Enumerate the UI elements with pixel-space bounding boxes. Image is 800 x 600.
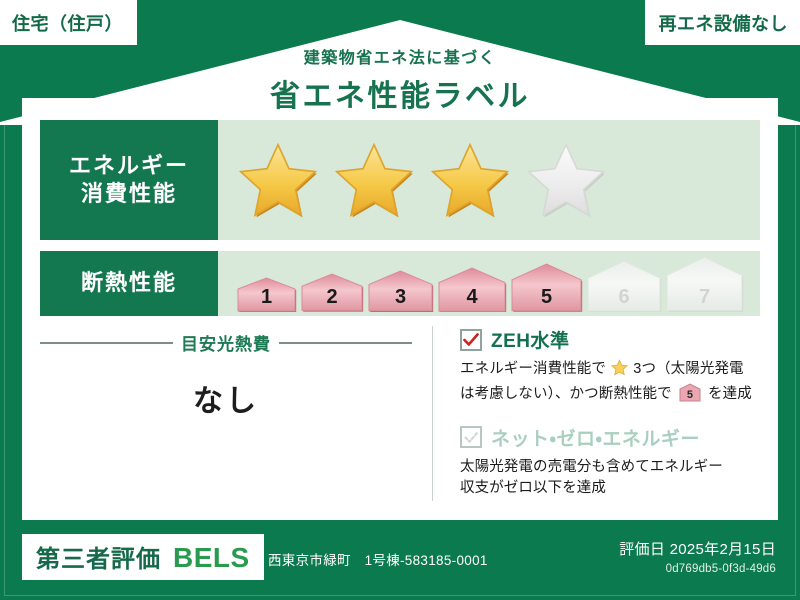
insulation-level-1: 1	[236, 276, 297, 312]
zeh-standard-body-part1: エネルギー消費性能で	[460, 361, 606, 377]
bels-logo-plate: 第三者評価 BELS	[22, 534, 264, 580]
insulation-level-number: 2	[300, 287, 364, 307]
renewable-equipment-tag-label: 再エネ設備なし	[659, 10, 789, 36]
zeh-standard-checkbox[interactable]	[460, 329, 482, 351]
zeh-standard-head: ZEH水準	[460, 326, 762, 353]
utility-cost-heading: 目安光熱費	[40, 330, 412, 355]
utility-cost-value: なし	[40, 376, 412, 420]
heading-rule-right	[279, 342, 412, 344]
insulation-performance-label: 断熱性能	[40, 251, 218, 316]
zeh-standard-body: エネルギー消費性能で 3つ（太陽光発電 は考慮しない）、かつ断熱性能で 5 を達…	[460, 359, 762, 410]
insulation-performance-value: 1234567	[218, 251, 760, 316]
svg-text:5: 5	[687, 389, 693, 401]
footer: 第三者評価 BELS 西東京市緑町 1号棟-583185-0001 評価日 20…	[0, 520, 800, 600]
zeh-standard-block: ZEH水準 エネルギー消費性能で 3つ（太陽光発電 は考慮しない）、かつ断熱性能…	[460, 326, 762, 410]
bels-logo-jp: 第三者評価	[36, 539, 161, 574]
zeh-standard-title: ZEH水準	[491, 326, 570, 353]
utility-cost-heading-text: 目安光熱費	[181, 330, 271, 355]
star-icon	[607, 364, 632, 380]
insulation-level-4: 4	[437, 266, 507, 312]
net-zero-energy-body: 太陽光発電の売電分も含めてエネルギー 収支がゼロ以下を達成	[460, 457, 762, 500]
star-icon-filled	[236, 140, 320, 220]
renewable-equipment-tag: 再エネ設備なし	[645, 0, 800, 45]
energy-performance-value	[218, 120, 760, 240]
energy-performance-row: エネルギー 消費性能	[40, 120, 760, 240]
evaluation-meta: 評価日 2025年2月15日 0d769db5-0f3d-49d6	[619, 538, 776, 575]
insulation-level-scale: 1234567	[236, 255, 744, 311]
vertical-divider	[432, 326, 433, 501]
net-zero-energy-body-line1: 太陽光発電の売電分も含めてエネルギー	[460, 459, 723, 475]
energy-performance-label-line2: 消費性能	[81, 180, 177, 208]
insulation-level-3: 3	[367, 269, 434, 312]
net-zero-energy-head: ネット・ゼロ・エネルギー	[460, 424, 762, 451]
zeh-standard-body-part4: を達成	[708, 386, 752, 402]
building-type-tag: 住宅（住戸）	[0, 0, 137, 45]
star-rating	[236, 140, 608, 220]
insulation-performance-row: 断熱性能 1234567	[40, 251, 760, 316]
evaluation-date: 評価日 2025年2月15日	[619, 538, 776, 559]
property-address: 西東京市緑町 1号棟-583185-0001	[268, 549, 488, 569]
insulation-level-number: 7	[665, 287, 744, 307]
energy-performance-label-line1: エネルギー	[69, 152, 189, 180]
star-icon-empty	[524, 140, 608, 220]
heading-rule-left	[40, 342, 173, 344]
insulation-level-7: 7	[665, 255, 744, 311]
insulation-performance-label-text: 断熱性能	[81, 269, 177, 297]
evaluation-date-value: 2025年2月15日	[670, 541, 776, 558]
star-icon-filled	[332, 140, 416, 220]
insulation-level-number: 3	[367, 287, 434, 307]
insulation-level-badge-icon: 5	[674, 390, 706, 406]
star-icon-filled	[428, 140, 512, 220]
zeh-column: ZEH水準 エネルギー消費性能で 3つ（太陽光発電 は考慮しない）、かつ断熱性能…	[460, 326, 762, 508]
zeh-standard-body-part3: は考慮しない）、かつ断熱性能で	[460, 386, 672, 402]
net-zero-energy-checkbox[interactable]	[460, 426, 482, 448]
building-type-tag-label: 住宅（住戸）	[12, 10, 123, 36]
net-zero-energy-title: ネット・ゼロ・エネルギー	[491, 424, 700, 451]
insulation-level-6: 6	[586, 259, 662, 312]
insulation-level-2: 2	[300, 272, 364, 311]
insulation-level-number: 6	[586, 287, 662, 307]
insulation-level-number: 1	[236, 287, 297, 307]
bels-logo-en: BELS	[173, 542, 250, 574]
zeh-standard-body-part2: 3つ（太陽光発電	[633, 361, 743, 377]
evaluation-uid: 0d769db5-0f3d-49d6	[619, 563, 776, 575]
net-zero-energy-body-line2: 収支がゼロ以下を達成	[460, 480, 606, 496]
insulation-level-number: 5	[510, 287, 583, 307]
energy-performance-label: エネルギー 消費性能	[40, 120, 218, 240]
label-card: エネルギー 消費性能 断熱性能 1234567 目安光熱費 なし	[22, 98, 778, 520]
insulation-level-number: 4	[437, 287, 507, 307]
evaluation-date-label: 評価日	[619, 541, 665, 558]
energy-label-root: 住宅（住戸） 再エネ設備なし 建築物省エネ法に基づく 省エネ性能ラベル エネルギ…	[0, 0, 800, 600]
net-zero-energy-block: ネット・ゼロ・エネルギー 太陽光発電の売電分も含めてエネルギー 収支がゼロ以下を…	[460, 424, 762, 500]
insulation-level-5: 5	[510, 262, 583, 312]
